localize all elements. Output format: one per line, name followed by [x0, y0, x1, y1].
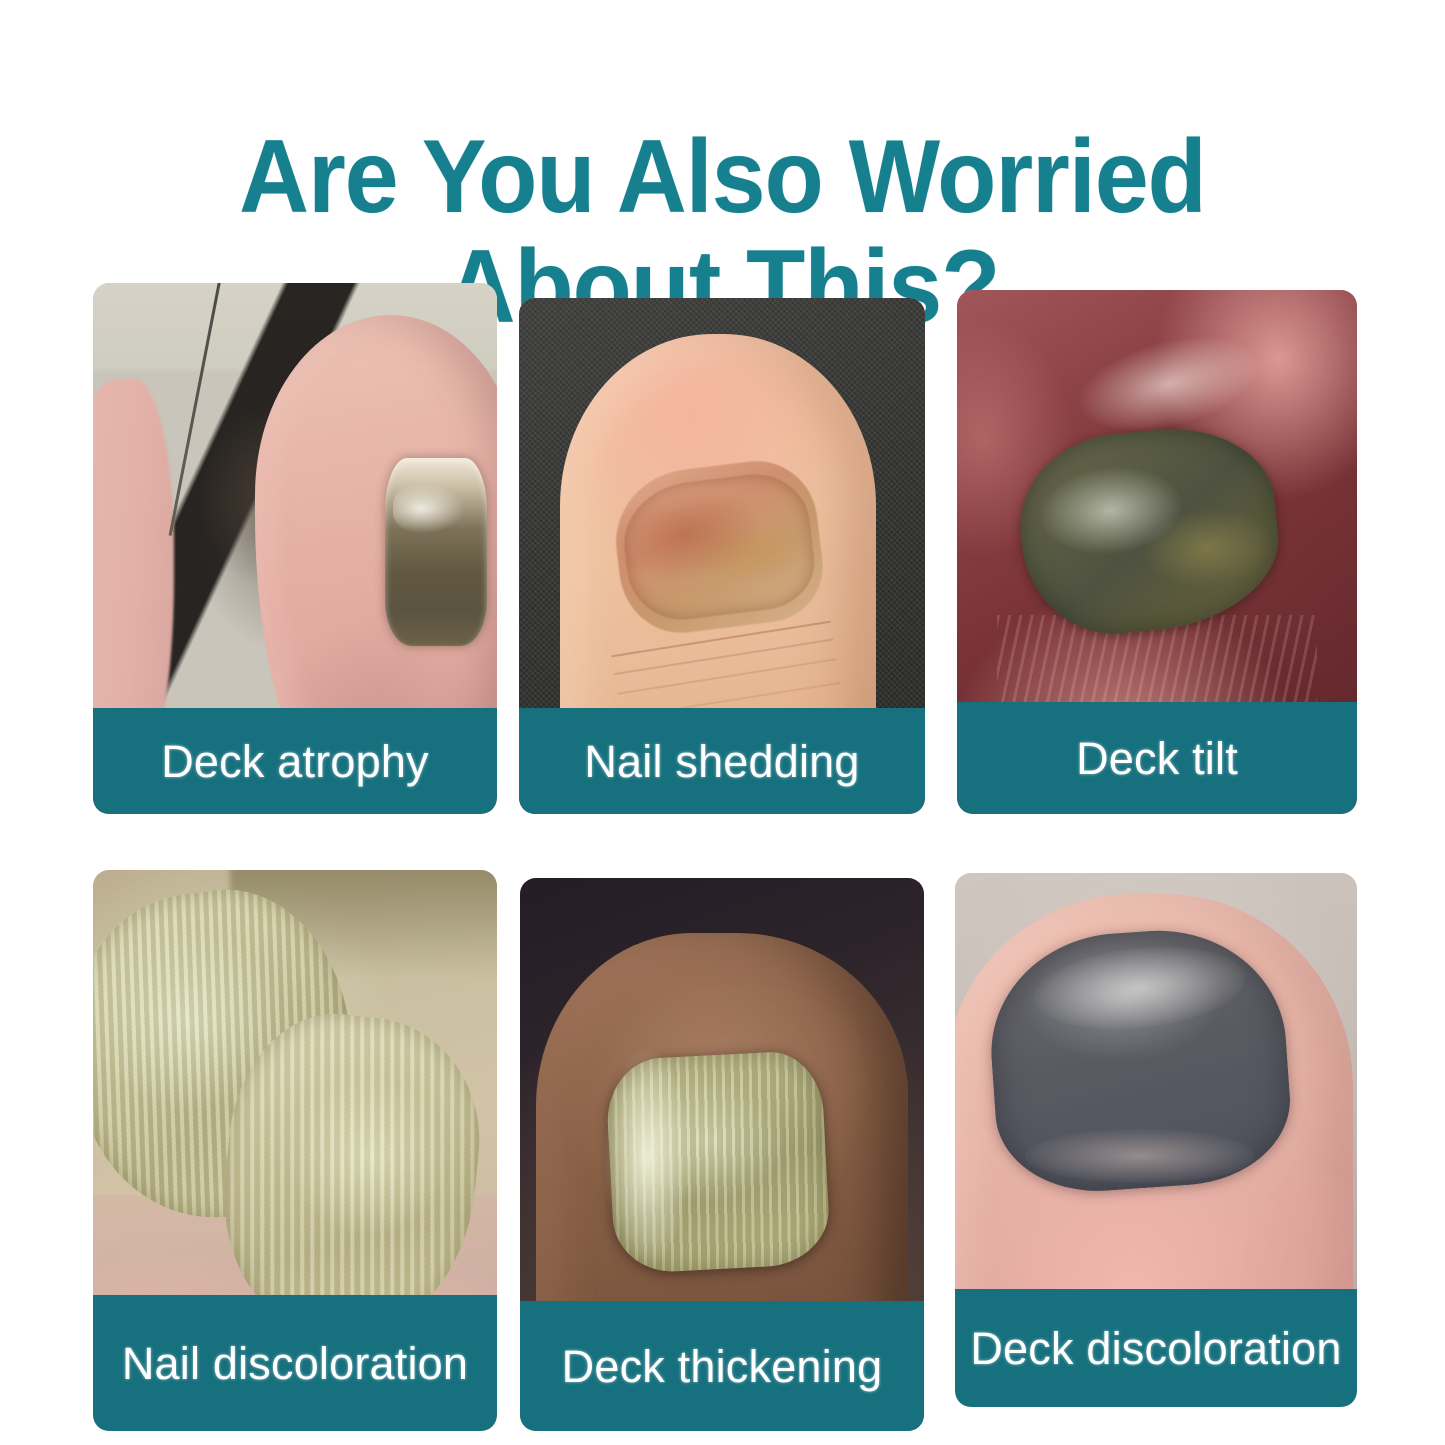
symptom-caption-bar: Deck discoloration — [955, 1289, 1357, 1407]
symptom-card-nail-discoloration[interactable]: Nail discoloration — [93, 870, 497, 1431]
symptom-card-deck-tilt[interactable]: Deck tilt — [957, 290, 1357, 814]
symptom-caption-label: Nail discoloration — [122, 1341, 468, 1386]
symptom-caption-bar: Nail shedding — [519, 708, 925, 814]
photo-detail-shedding-plate — [607, 454, 828, 639]
symptom-caption-label: Deck atrophy — [161, 739, 429, 784]
symptom-caption-bar: Deck thickening — [520, 1301, 924, 1431]
symptom-caption-bar: Deck atrophy — [93, 708, 497, 814]
symptom-gallery-grid: Deck atrophy Nail shedding — [93, 281, 1357, 1431]
symptom-caption-label: Deck tilt — [1076, 736, 1238, 781]
symptom-card-nail-shedding[interactable]: Nail shedding — [519, 298, 925, 814]
photo-detail-lunula — [1025, 1129, 1255, 1182]
symptom-caption-label: Deck thickening — [562, 1344, 883, 1389]
photo-detail-crumbling-edge — [603, 1045, 692, 1269]
symptom-caption-label: Nail shedding — [584, 739, 859, 784]
symptom-caption-bar: Deck tilt — [957, 702, 1357, 814]
photo-detail-nail-plate — [385, 458, 486, 647]
infographic-page: Are You Also Worried About This? Deck at… — [0, 0, 1445, 1445]
photo-detail-cable — [169, 283, 223, 536]
symptom-caption-label: Deck discoloration — [970, 1326, 1341, 1371]
symptom-card-deck-atrophy[interactable]: Deck atrophy — [93, 283, 497, 814]
symptom-caption-bar: Nail discoloration — [93, 1295, 497, 1431]
symptom-card-deck-thickening[interactable]: Deck thickening — [520, 878, 924, 1431]
symptom-card-deck-discoloration[interactable]: Deck discoloration — [955, 873, 1357, 1407]
